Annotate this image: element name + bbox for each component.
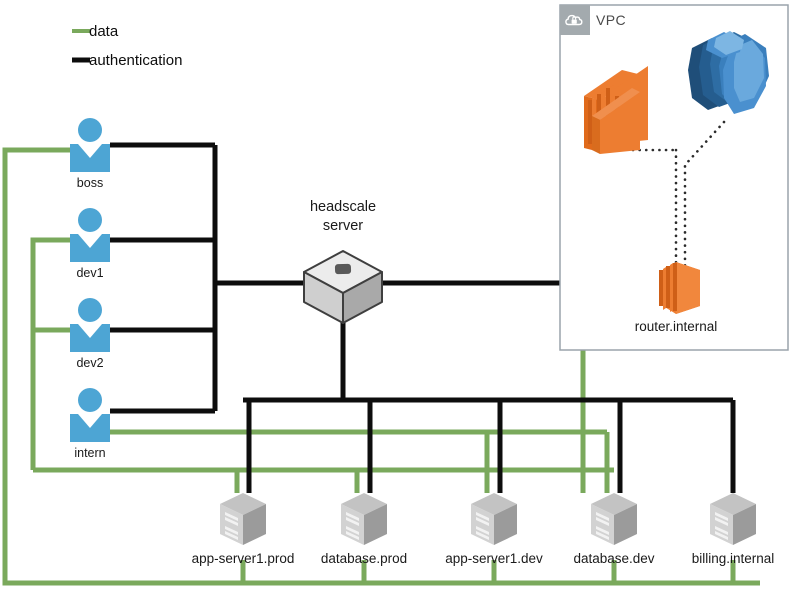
network-diagram-canvas: data authentication boss dev1 dev2 inter…: [0, 0, 792, 593]
user-label-dev2: dev2: [76, 356, 103, 371]
user-label-intern: intern: [74, 446, 105, 461]
server-label-app-server1-prod: app-server1.prod: [192, 551, 295, 567]
server-label-database-dev: database.dev: [573, 551, 654, 567]
user-label-dev1: dev1: [76, 266, 103, 281]
headscale-label-line2: server: [323, 218, 363, 235]
headscale-label-line1: headscale: [310, 199, 376, 216]
server-label-billing-internal: billing.internal: [692, 551, 775, 567]
legend-label-authentication: authentication: [89, 52, 182, 70]
server-label-app-server1-dev: app-server1.dev: [445, 551, 543, 567]
router-label: router.internal: [635, 319, 718, 335]
vpc-title: VPC: [596, 12, 626, 29]
user-label-boss: boss: [77, 176, 103, 191]
legend-label-data: data: [89, 23, 118, 41]
server-label-database-prod: database.prod: [321, 551, 407, 567]
legend-lines-layer: [0, 0, 792, 593]
